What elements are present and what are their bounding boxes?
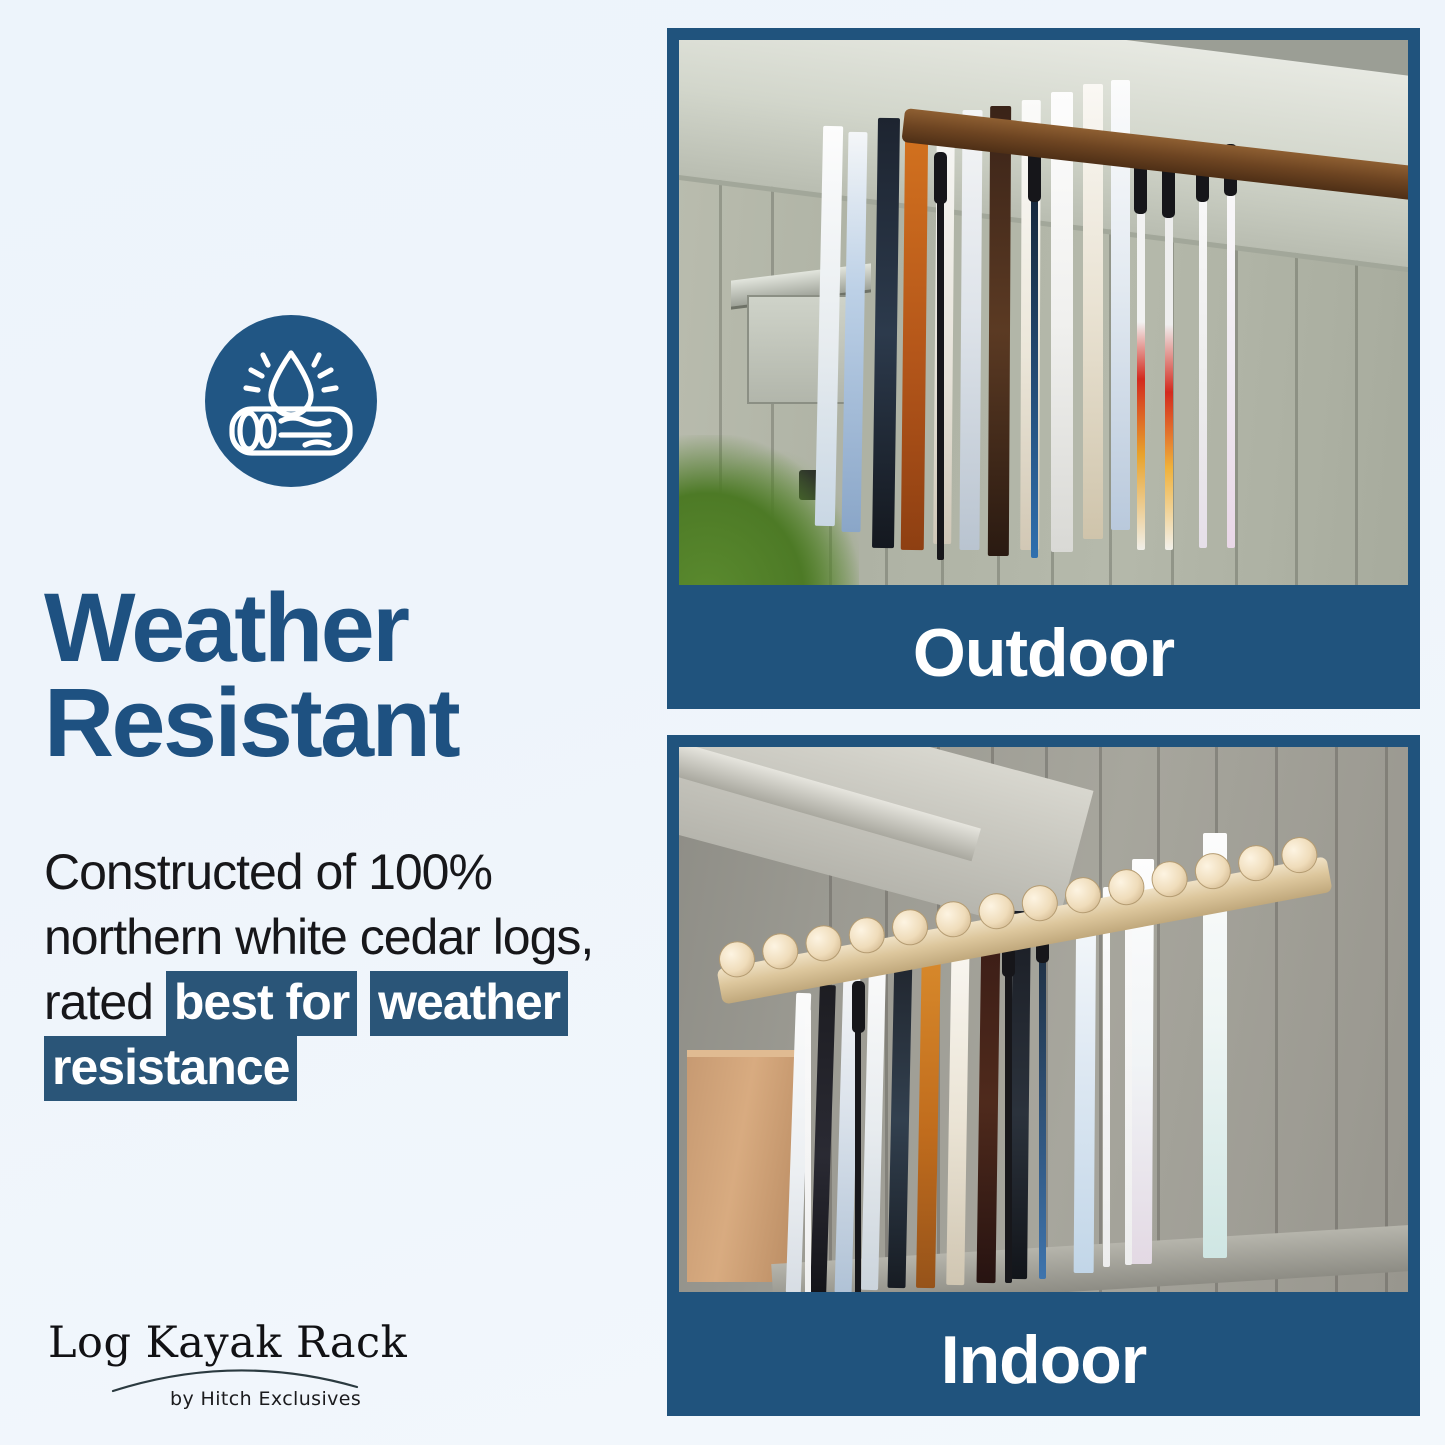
indoor-caption: Indoor [667,1304,1420,1416]
headline-line-1: Weather [44,573,407,682]
brand-tagline: by Hitch Exclusives [170,1388,361,1410]
indoor-photo [679,747,1408,1292]
body-description: Constructed of 100% northern white cedar… [44,840,634,1100]
weather-resistance-badge [205,315,377,487]
outdoor-photo [679,40,1408,585]
infographic-canvas: Weather Resistant Constructed of 100% no… [0,0,1445,1445]
page-title: Weather Resistant [44,580,644,770]
indoor-cardboard-box [687,1050,799,1282]
indoor-panel: Indoor [667,735,1420,1416]
outdoor-panel: Outdoor [667,28,1420,709]
outdoor-wall-vent [747,295,856,404]
brand-logo: Log Kayak Rack by Hitch Exclusives [48,1318,378,1423]
headline-line-2: Resistant [44,675,644,770]
left-content-column: Weather Resistant Constructed of 100% no… [0,0,660,1445]
highlight-best-for: best for [166,971,357,1036]
outdoor-caption: Outdoor [667,597,1420,709]
